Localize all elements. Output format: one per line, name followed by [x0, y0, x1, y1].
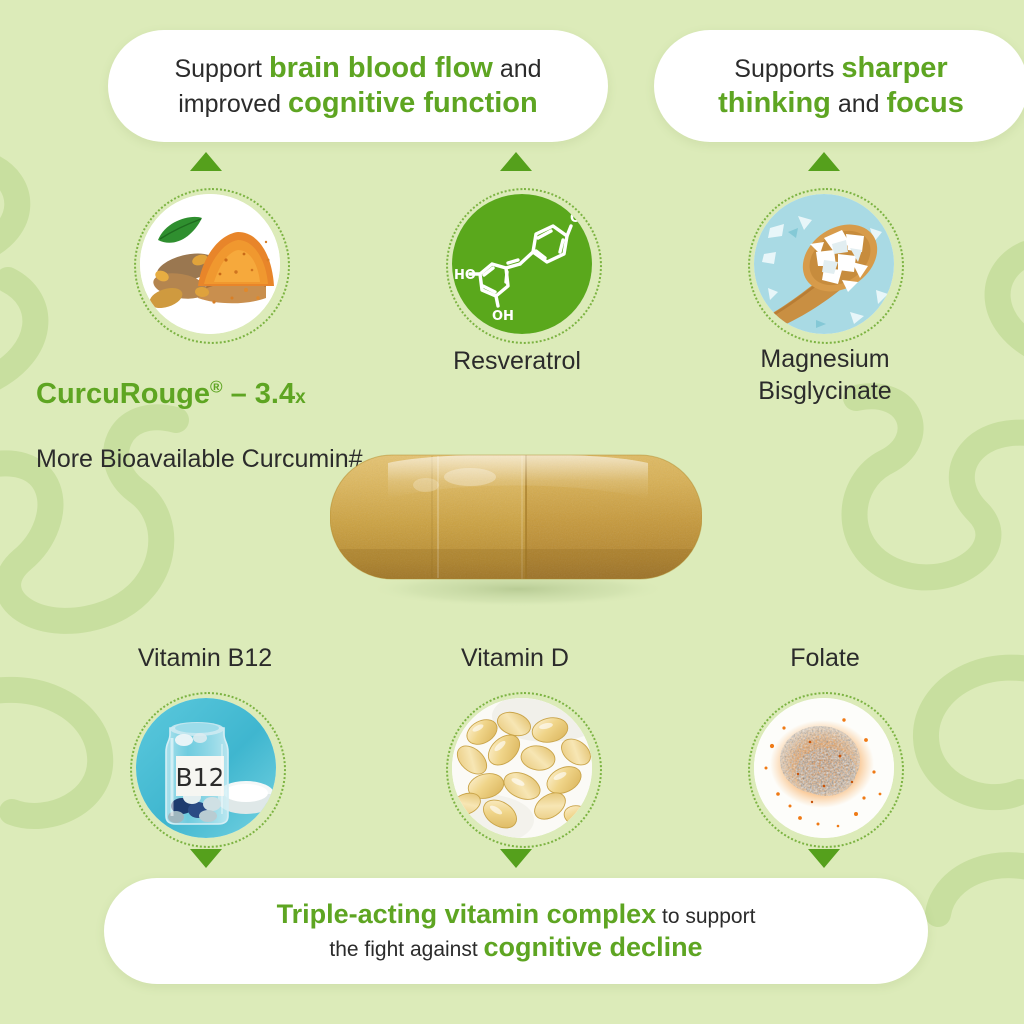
molecule-label-oh-top: OH: [570, 211, 592, 226]
magnesium-image-circle: [754, 194, 894, 334]
label-vitamin-d: Vitamin D: [390, 643, 640, 675]
callout-bottom-line2-strong: cognitive decline: [484, 932, 703, 962]
resveratrol-molecule-icon: OH HO OH: [452, 194, 592, 334]
infographic-poster: .sq { fill: none; stroke: #c8df9f; strok…: [0, 0, 1024, 1024]
product-capsule: [330, 437, 702, 617]
arrow-down-vitamin-d: [500, 849, 532, 868]
callout-bottom-line1-strong: Triple-acting vitamin complex: [277, 899, 657, 929]
orange-powder-icon: [754, 698, 894, 838]
callout-bottom-line2-pre: the fight against: [329, 938, 483, 961]
callout-sharper-line2-thinking: thinking: [718, 87, 831, 119]
curcurouge-multiplier-value: – 3.4: [223, 378, 296, 410]
callout-bottom-line-2: the fight against cognitive decline: [329, 931, 702, 964]
label-vitamin-b12: Vitamin B12: [80, 643, 330, 675]
vitamin-b12-image-circle: B12: [136, 698, 276, 838]
curcurouge-registered-mark: ®: [210, 377, 223, 396]
curcurouge-multiplier-x: x: [295, 387, 306, 408]
callout-brain-line1-pre: Support: [174, 55, 269, 83]
callout-brain-line2-pre: improved: [178, 90, 288, 118]
callout-brain-line1-post: and: [493, 55, 542, 83]
callout-brain-line2-strong: cognitive function: [288, 87, 538, 119]
callout-brain-line1-strong: brain blood flow: [269, 52, 493, 84]
arrow-down-vitamin-b12: [190, 849, 222, 868]
b12-jar-label-text: B12: [176, 763, 225, 792]
resveratrol-image-circle: OH HO OH: [452, 194, 592, 334]
arrow-down-folate: [808, 849, 840, 868]
callout-triple-acting-complex: Triple-acting vitamin complex to support…: [104, 878, 928, 984]
callout-bottom-line-1: Triple-acting vitamin complex to support: [277, 898, 756, 931]
label-magnesium: Magnesium Bisglycinate: [700, 344, 950, 407]
callout-sharper-line-1: Supports sharper: [734, 51, 947, 86]
folate-image-circle: [754, 698, 894, 838]
callout-sharper-line1-pre: Supports: [734, 55, 841, 83]
callout-sharper-thinking: Supports sharper thinking and focus: [654, 30, 1024, 142]
curcurouge-brand-line: CurcuRouge® – 3.4x: [36, 376, 456, 413]
callout-brain-line-1: Support brain blood flow and: [174, 51, 541, 86]
curcurouge-image-circle: [140, 194, 280, 334]
arrow-up-resveratrol: [500, 152, 532, 171]
molecule-label-oh-bottom: OH: [492, 309, 514, 324]
label-folate: Folate: [700, 643, 950, 675]
arrow-up-magnesium: [808, 152, 840, 171]
callout-brain-line-2: improved cognitive function: [178, 86, 537, 121]
callout-sharper-line2-focus: focus: [887, 87, 964, 119]
arrow-up-curcurouge: [190, 152, 222, 171]
molecule-label-ho-left: HO: [454, 268, 476, 283]
wooden-spoon-mineral-flakes-icon: [754, 194, 894, 334]
label-resveratrol: Resveratrol: [392, 346, 642, 378]
callout-brain-blood-flow: Support brain blood flow and improved co…: [108, 30, 608, 142]
callout-sharper-line-2: thinking and focus: [718, 86, 964, 121]
curcurouge-brand-name: CurcuRouge: [36, 378, 210, 410]
callout-bottom-line1-post: to support: [656, 905, 755, 928]
callout-sharper-line2-mid: and: [831, 90, 887, 118]
vitamin-d-image-circle: [452, 698, 592, 838]
b12-supplement-jar-icon: B12: [136, 698, 276, 838]
softgel-capsules-icon: [452, 698, 592, 838]
callout-sharper-line1-strong: sharper: [841, 52, 947, 84]
turmeric-root-powder-icon: [140, 194, 280, 334]
